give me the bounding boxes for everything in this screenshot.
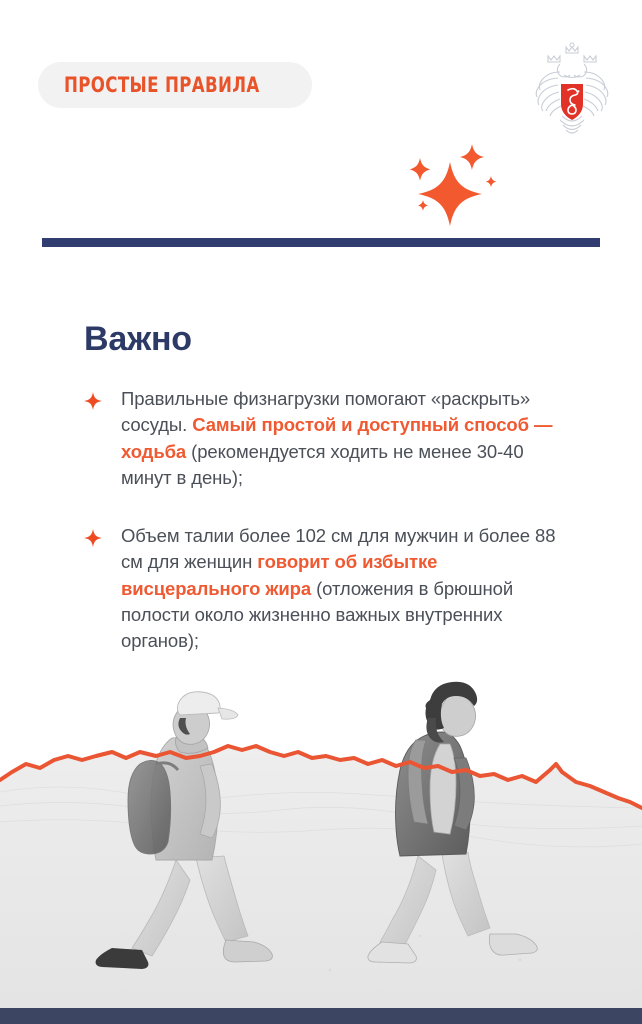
list-item-text: Правильные физнагрузки помогают «раскрыт… (121, 386, 564, 491)
footer-bar (0, 1008, 642, 1024)
header-divider (42, 238, 600, 247)
walking-people-photo (0, 660, 642, 1008)
infographic-slide: ПРОСТЫЕ ПРАВИЛА (0, 0, 642, 1024)
category-badge: ПРОСТЫЕ ПРАВИЛА (38, 62, 312, 108)
star-bullet-icon (84, 392, 102, 410)
page-title: Важно (84, 321, 192, 358)
list-item: Объем талии более 102 см для мужчин и бо… (84, 523, 564, 654)
russian-ministry-of-health-emblem-icon (530, 42, 614, 138)
list-item: Правильные физнагрузки помогают «раскрыт… (84, 386, 564, 491)
star-bullet-icon (84, 529, 102, 547)
header: ПРОСТЫЕ ПРАВИЛА (0, 0, 642, 150)
category-badge-label: ПРОСТЫЕ ПРАВИЛА (64, 73, 260, 97)
sparkle-decoration-icon (392, 132, 504, 228)
bullet-list: Правильные физнагрузки помогают «раскрыт… (84, 386, 564, 654)
list-item-text: Объем талии более 102 см для мужчин и бо… (121, 523, 564, 654)
